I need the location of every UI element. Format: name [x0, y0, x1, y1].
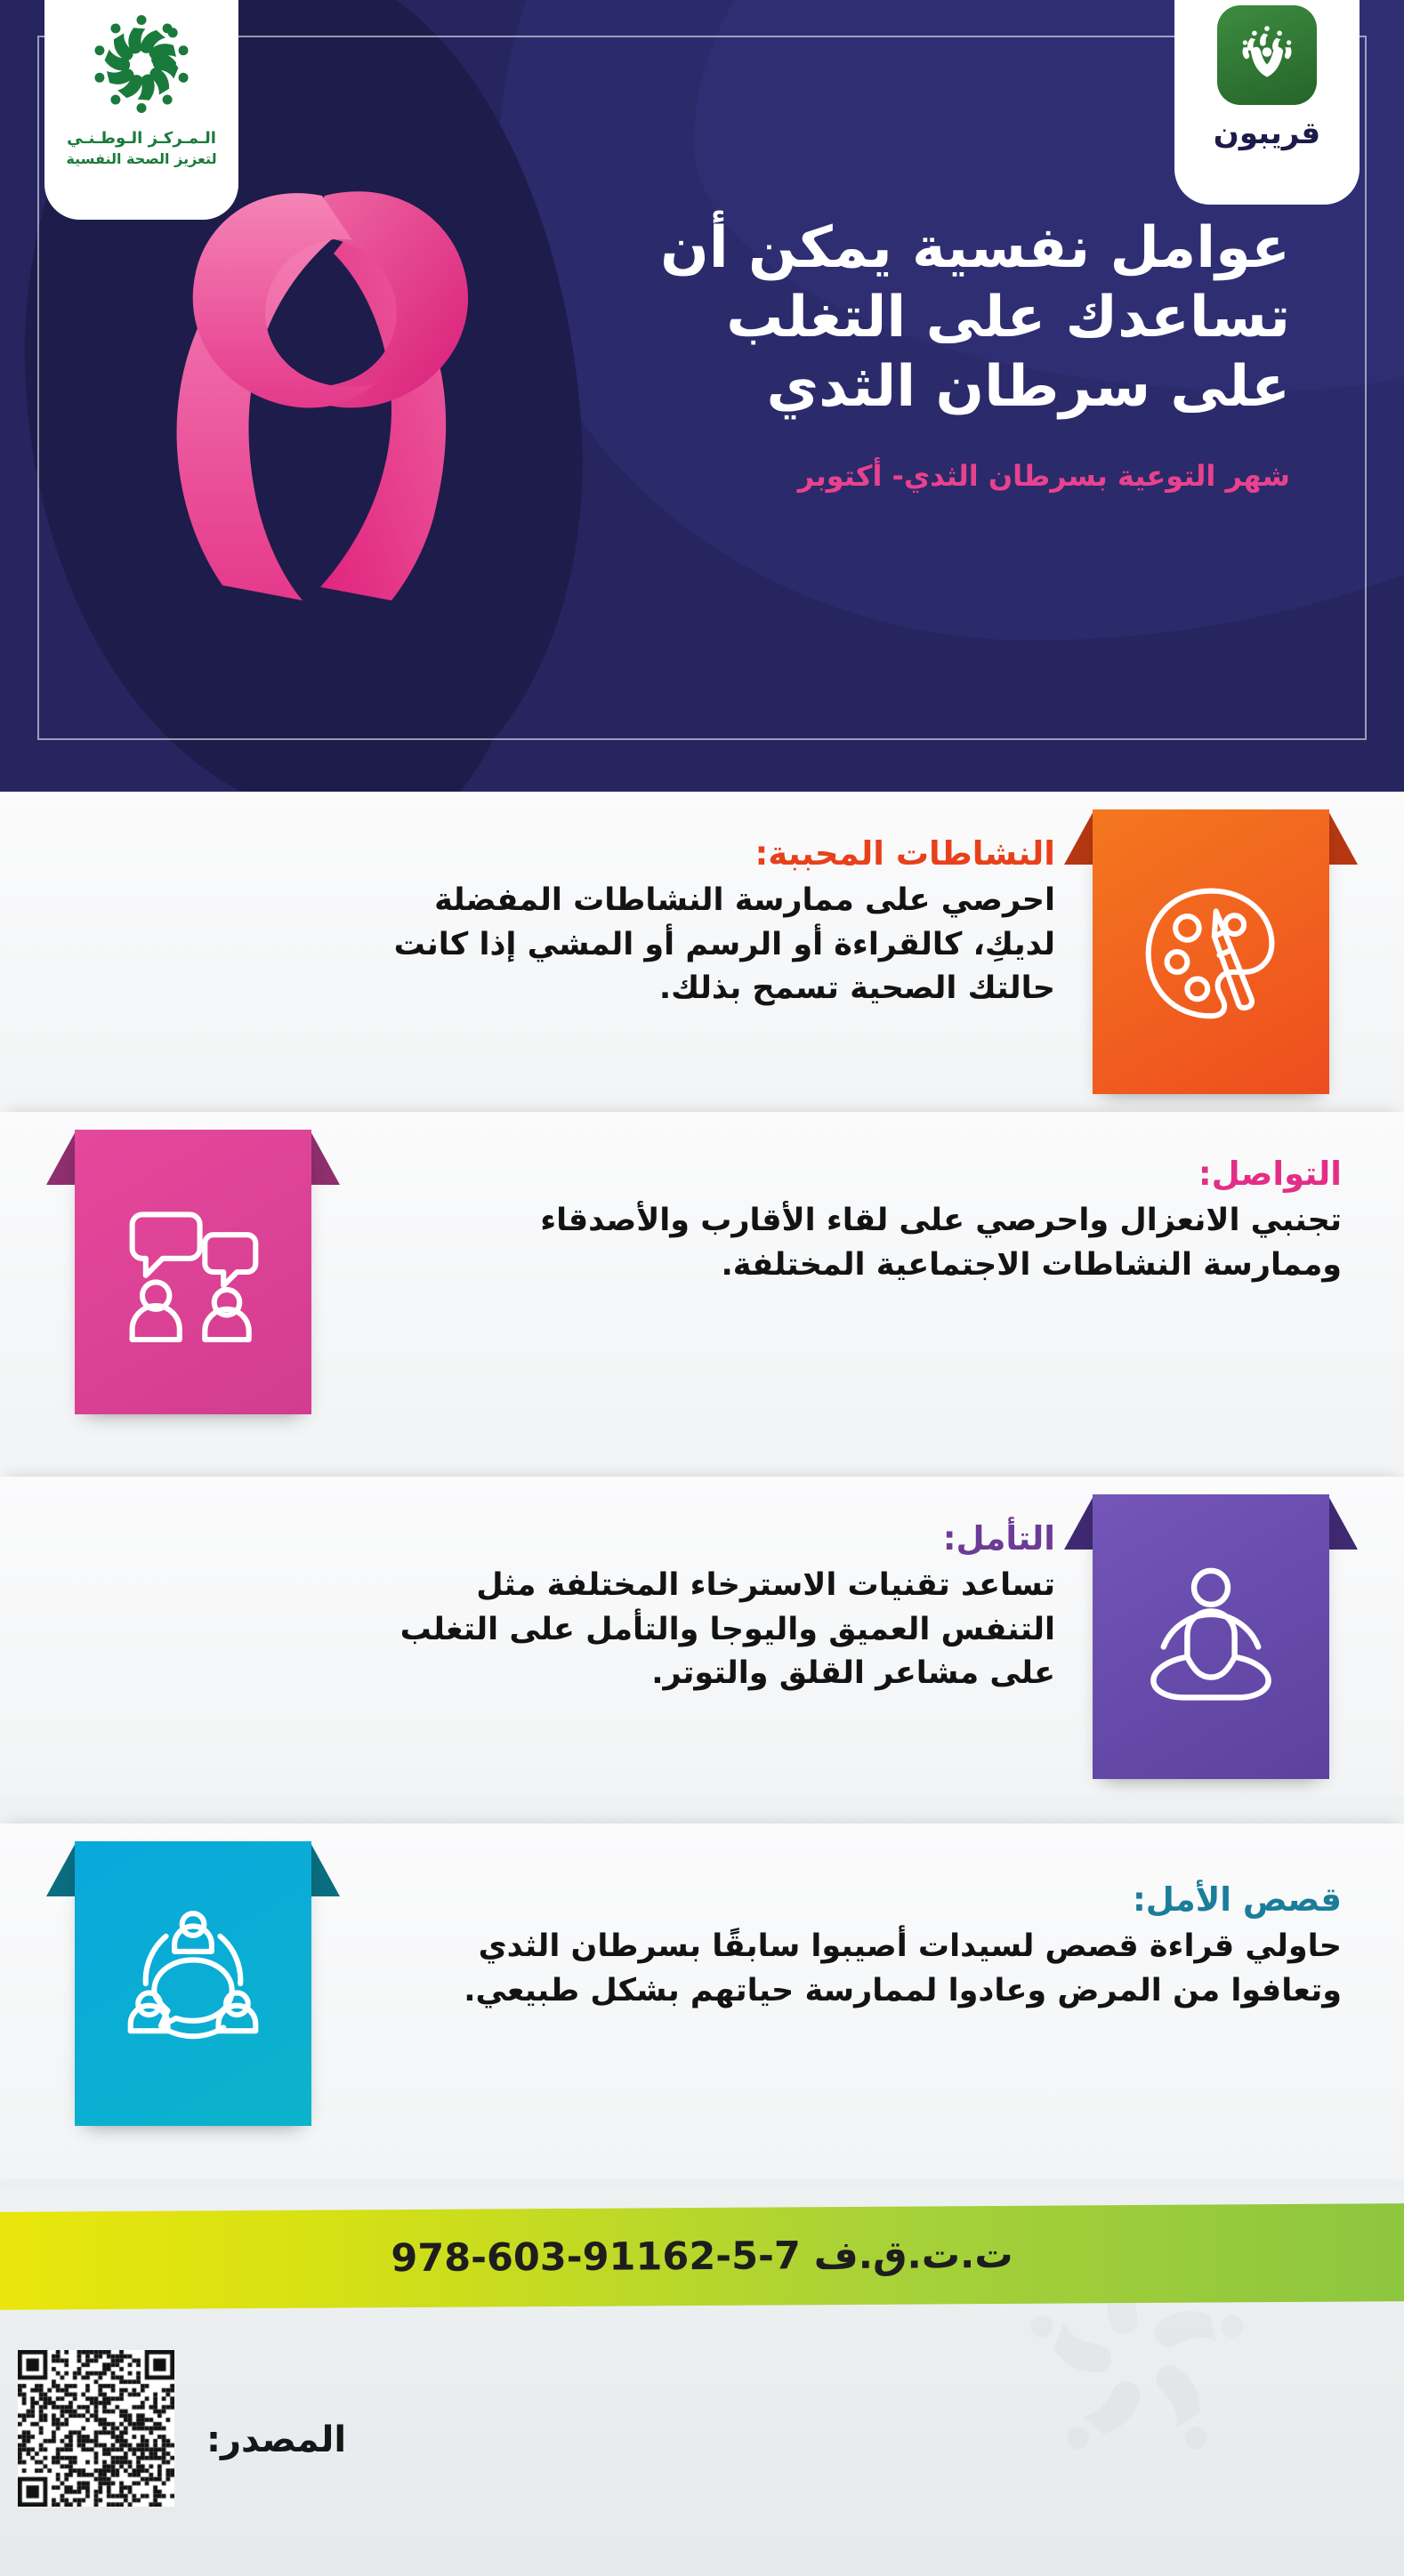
banner-fold-left	[1064, 809, 1094, 865]
card-3-title: التأمل:	[352, 1517, 1055, 1560]
card-1-text: النشاطات المحببة: احرصي على ممارسة النشا…	[352, 833, 1055, 1011]
banner-fold-right	[310, 1841, 340, 1896]
banner-fold-right	[1327, 1494, 1358, 1550]
banner-fold-right	[310, 1130, 340, 1185]
footer: ت.ت.ق.ف 7-5-91162-603-978 المصدر:	[0, 2188, 1404, 2576]
logo-text-line1: الـمـركـز الـوطـنـي	[67, 129, 216, 148]
card-1-icon-banner	[1064, 809, 1358, 1094]
card-2-icon-tile	[75, 1130, 311, 1414]
card-3-body: تساعد تقنيات الاسترخاء المختلفة مثل التن…	[352, 1564, 1055, 1696]
banner-fold-right	[1327, 809, 1358, 865]
banner-fold-left	[46, 1130, 77, 1185]
page-subtitle: شهر التوعية بسرطان الثدي- أكتوبر	[489, 459, 1290, 493]
card-4-text: قصص الأمل: حاولي قراءة قصص لسيدات أصيبوا…	[399, 1879, 1342, 2013]
card-4-body: حاولي قراءة قصص لسيدات أصيبوا سابقًا بسر…	[399, 1925, 1342, 2013]
banner-fold-left	[1064, 1494, 1094, 1550]
card-3-icon-banner	[1064, 1494, 1358, 1779]
card-2-text: التواصل: تجنبي الانعزال واحرصي على لقاء …	[399, 1153, 1342, 1287]
card-row-4: قصص الأمل: حاولي قراءة قصص لسيدات أصيبوا…	[0, 1823, 1404, 2179]
infographic-page: الـمـركـز الـوطـنـي لتعزيز الصحة النفسية	[0, 0, 1404, 2576]
ncmh-star-people-logo	[83, 5, 200, 123]
header-text-block: عوامل نفسية يمكن أن تساعدك على التغلب عل…	[489, 213, 1290, 493]
card-3-icon-tile	[1093, 1494, 1329, 1779]
license-bar: ت.ت.ق.ف 7-5-91162-603-978	[0, 2203, 1404, 2310]
ncmh-logo-card: الـمـركـز الـوطـنـي لتعزيز الصحة النفسية	[44, 0, 238, 220]
card-4-icon-banner	[46, 1841, 340, 2126]
card-1-title: النشاطات المحببة:	[352, 833, 1055, 875]
card-row-3: التأمل: تساعد تقنيات الاسترخاء المختلفة …	[0, 1477, 1404, 1797]
qareeboon-app-icon	[1217, 5, 1317, 105]
card-2-icon-banner	[46, 1130, 340, 1414]
people-chat-bubbles-icon	[109, 1187, 278, 1356]
qareeboon-app-card[interactable]: قريبون	[1174, 0, 1360, 205]
page-title-line-2: تساعدك على التغلب	[489, 283, 1290, 352]
page-title-line-1: عوامل نفسية يمكن أن	[489, 213, 1290, 283]
card-row-1: النشاطات المحببة: احرصي على ممارسة النشا…	[0, 792, 1404, 1112]
card-2-title: التواصل:	[399, 1153, 1342, 1195]
card-1-icon-tile	[1093, 809, 1329, 1094]
card-row-2: التواصل: تجنبي الانعزال واحرصي على لقاء …	[0, 1112, 1404, 1432]
page-title-line-3: على سرطان الثدي	[489, 352, 1290, 422]
meditation-lotus-icon	[1126, 1552, 1295, 1721]
qr-code-icon[interactable]	[18, 2350, 174, 2507]
card-3-text: التأمل: تساعد تقنيات الاسترخاء المختلفة …	[352, 1517, 1055, 1696]
card-2-body: تجنبي الانعزال واحرصي على لقاء الأقارب و…	[399, 1199, 1342, 1287]
cards-section: قريبون قريبون	[0, 792, 1404, 2188]
license-text: ت.ت.ق.ف 7-5-91162-603-978	[391, 2233, 1013, 2281]
card-1-body: احرصي على ممارسة النشاطات المفضلة لديكِ،…	[352, 879, 1055, 1011]
card-4-icon-tile	[75, 1841, 311, 2126]
community-speech-circle-icon	[109, 1899, 278, 2068]
paint-palette-icon	[1126, 867, 1295, 1036]
card-4-title: قصص الأمل:	[399, 1879, 1342, 1921]
header-banner: الـمـركـز الـوطـنـي لتعزيز الصحة النفسية	[0, 0, 1404, 792]
source-label: المصدر:	[206, 2419, 346, 2460]
logo-text-line2: لتعزيز الصحة النفسية	[66, 150, 216, 167]
banner-fold-left	[46, 1841, 77, 1896]
qareeboon-app-label: قريبون	[1214, 116, 1320, 151]
